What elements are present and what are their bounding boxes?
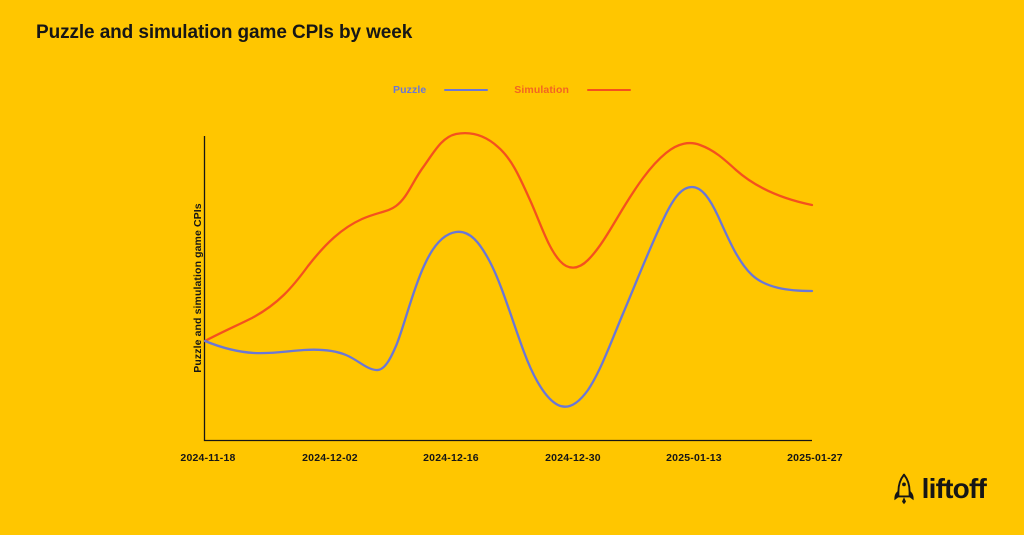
chart-page: Puzzle and simulation game CPIs by week … <box>0 0 1024 535</box>
x-tick-label-2: 2024-12-16 <box>423 452 479 464</box>
liftoff-logo: liftoff <box>891 473 986 505</box>
rocket-icon <box>891 473 917 505</box>
plot-area: Puzzle and simulation game CPIs 2024-11-… <box>0 0 1024 535</box>
x-tick-label-3: 2024-12-30 <box>545 452 601 464</box>
x-tick-label-5: 2025-01-27 <box>787 452 843 464</box>
x-tick-label-1: 2024-12-02 <box>302 452 358 464</box>
axis-lines <box>205 136 813 441</box>
liftoff-wordmark: liftoff <box>922 475 986 503</box>
chart-svg <box>0 0 1024 535</box>
series-line-puzzle <box>205 187 812 407</box>
x-tick-label-4: 2025-01-13 <box>666 452 722 464</box>
y-axis-title: Puzzle and simulation game CPIs <box>192 168 204 408</box>
x-tick-label-0: 2024-11-18 <box>180 452 235 464</box>
